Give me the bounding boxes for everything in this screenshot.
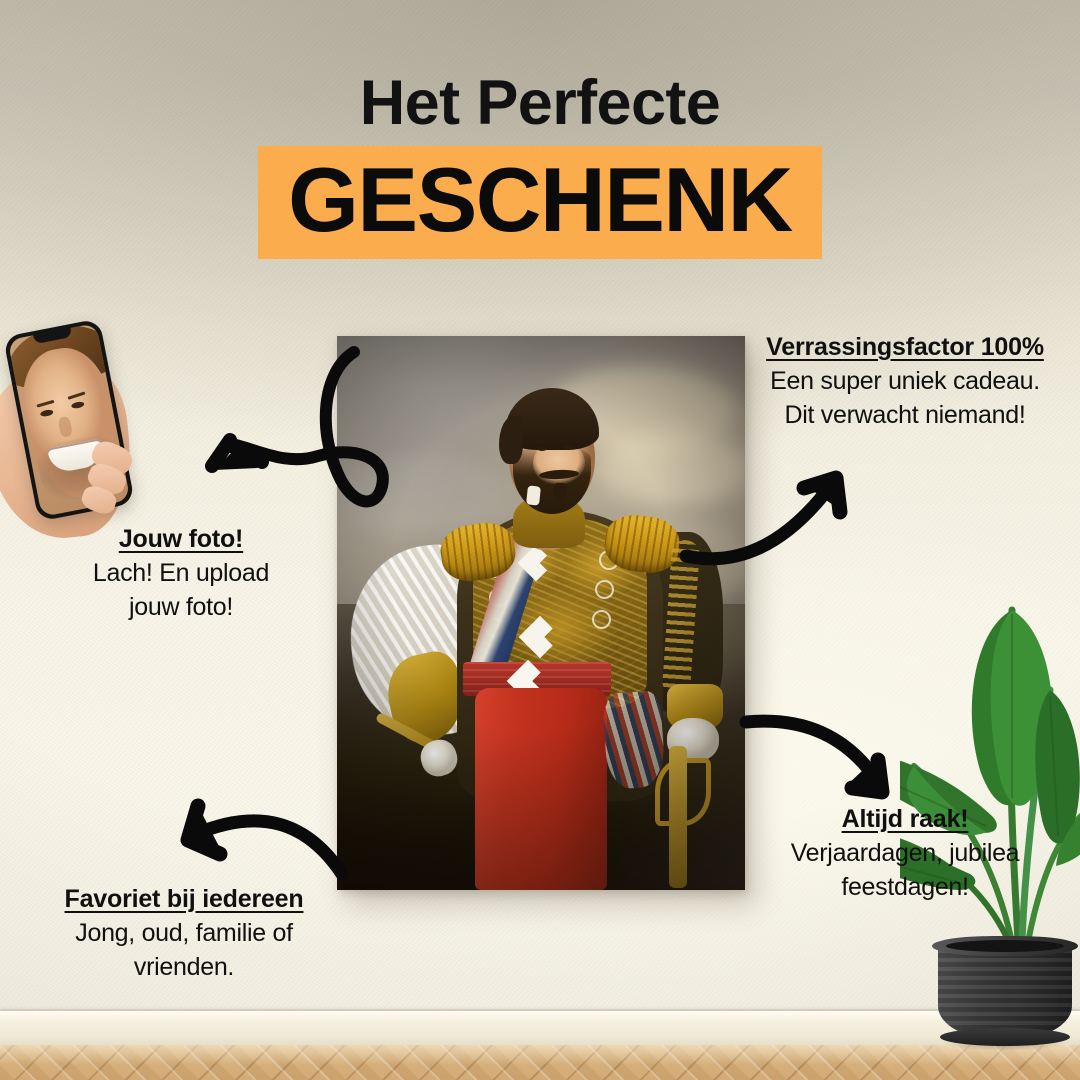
portrait-canvas[interactable] bbox=[337, 336, 745, 890]
callout-body-line2: feestdagen! bbox=[752, 871, 1058, 904]
selfie-eyebrow bbox=[67, 391, 85, 399]
selfie-eyebrow bbox=[36, 400, 54, 408]
callout-title: Verrassingsfactor 100% bbox=[742, 332, 1068, 363]
plant-pot-soil bbox=[946, 940, 1064, 952]
selfie-nose bbox=[57, 416, 73, 438]
floor-highlight bbox=[0, 1045, 1080, 1080]
callout-body-line2: jouw foto! bbox=[36, 591, 326, 624]
headline-block: Het Perfecte GESCHENK bbox=[0, 72, 1080, 259]
callout-body-line1: Een super uniek cadeau. bbox=[742, 365, 1068, 398]
callout-title: Altijd raak! bbox=[752, 804, 1058, 835]
wood-floor bbox=[0, 1045, 1080, 1080]
selfie-eye bbox=[40, 409, 54, 417]
selfie-eye bbox=[71, 401, 85, 409]
callout-altijd-raak: Altijd raak! Verjaardagen, jubilea feest… bbox=[752, 804, 1058, 904]
hand-holding-phone[interactable] bbox=[0, 326, 196, 546]
headline-line1: Het Perfecte bbox=[0, 72, 1080, 135]
plant-pot-saucer bbox=[940, 1028, 1070, 1046]
callout-jouw-foto: Jouw foto! Lach! En upload jouw foto! bbox=[36, 524, 326, 624]
callout-body-line1: Lach! En upload bbox=[36, 557, 326, 590]
headline-line2: GESCHENK bbox=[288, 155, 792, 246]
callout-body-line1: Jong, oud, familie of bbox=[24, 917, 344, 950]
callout-body-line2: vrienden. bbox=[24, 951, 344, 984]
bird-of-paradise-plant bbox=[900, 540, 1080, 1050]
headline-highlight-band: GESCHENK bbox=[258, 146, 822, 259]
callout-verrassingsfactor: Verrassingsfactor 100% Een super uniek c… bbox=[742, 332, 1068, 432]
callout-favoriet-bij-iedereen: Favoriet bij iedereen Jong, oud, familie… bbox=[24, 884, 344, 984]
canvas-sheen bbox=[337, 336, 745, 890]
callout-body-line2: Dit verwacht niemand! bbox=[742, 399, 1068, 432]
callout-title: Jouw foto! bbox=[36, 524, 326, 555]
callout-body-line1: Verjaardagen, jubilea bbox=[752, 837, 1058, 870]
portrait-artwork bbox=[337, 336, 745, 890]
poster-canvas: Het Perfecte GESCHENK bbox=[0, 0, 1080, 1080]
callout-title: Favoriet bij iedereen bbox=[24, 884, 344, 915]
